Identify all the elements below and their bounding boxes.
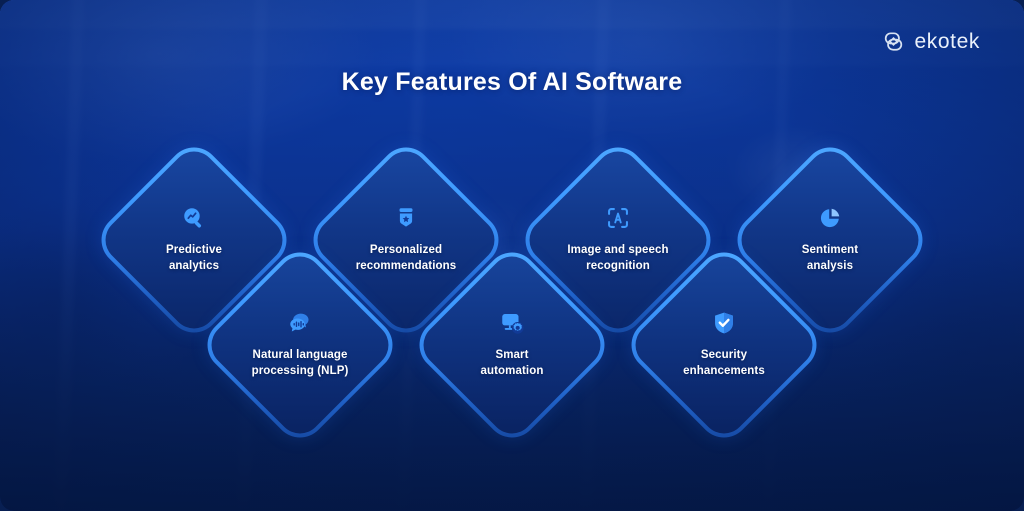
chat-bubbles-waveform-icon <box>287 310 313 336</box>
feature-label: Natural language processing (NLP) <box>225 348 375 380</box>
shield-check-icon <box>711 310 737 336</box>
magnifier-trendline-icon <box>181 205 207 231</box>
feature-label: Image and speech recognition <box>543 243 693 275</box>
feature-label: Predictive analytics <box>119 243 269 275</box>
feature-diamond-grid: Predictive analytics <box>0 0 1024 511</box>
badge-star-icon <box>393 205 419 231</box>
scan-frame-letter-a-icon <box>605 205 631 231</box>
infographic-canvas: ekotek Key Features Of AI Software Predi… <box>0 0 1024 511</box>
monitor-gear-icon <box>499 310 525 336</box>
pie-chart-icon <box>817 205 843 231</box>
feature-label: Personalized recommendations <box>331 243 481 275</box>
feature-label: Security enhancements <box>649 348 799 380</box>
feature-label: Sentiment analysis <box>755 243 905 275</box>
feature-label: Smart automation <box>437 348 587 380</box>
